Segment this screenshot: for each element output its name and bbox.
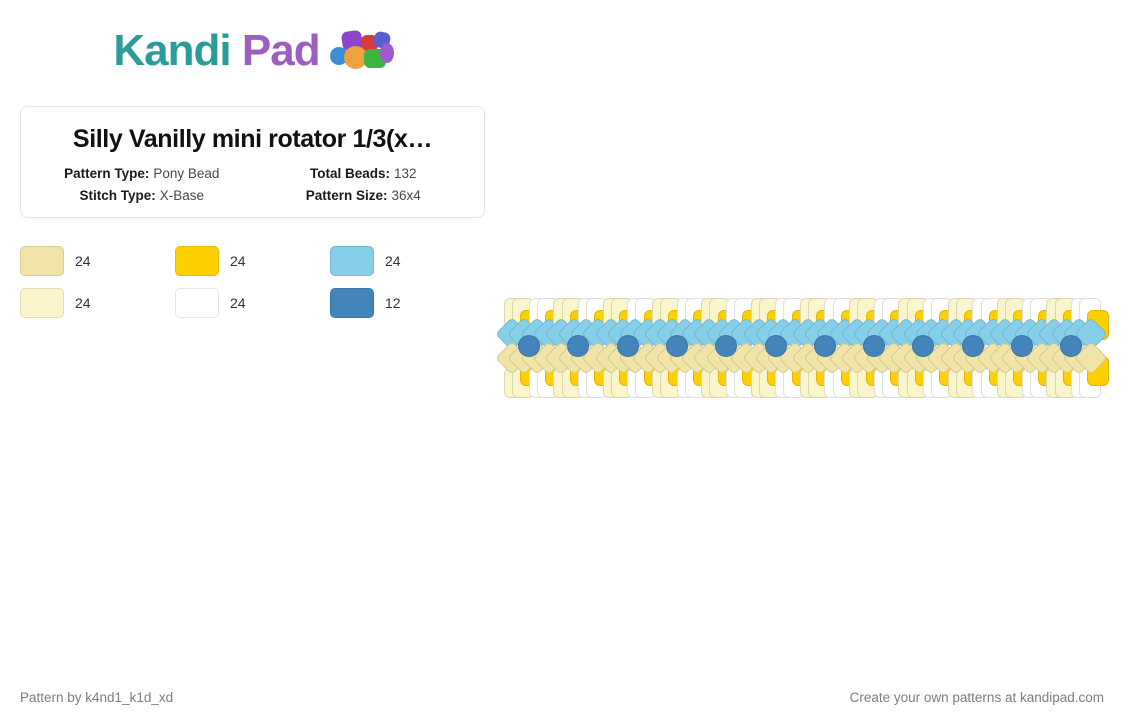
pattern-meta-grid: Pattern Type:Pony Bead Total Beads:132 S… [31, 166, 474, 203]
legend-swatch-vanilla [20, 246, 64, 276]
meta-pattern-type-value: Pony Bead [153, 166, 219, 181]
legend-swatch-steel-blue [330, 288, 374, 318]
meta-pattern-size-value: 36x4 [392, 188, 421, 203]
bead-pattern-preview [505, 296, 1105, 402]
legend-count-vanilla: 24 [75, 253, 91, 269]
meta-pattern-type: Pattern Type:Pony Bead [31, 166, 253, 181]
bead-row3-steel-blue [1011, 335, 1033, 357]
pattern-info-card: Silly Vanilly mini rotator 1/3(x… Patter… [20, 106, 485, 218]
legend-swatch-white [175, 288, 219, 318]
legend-count-cream: 24 [75, 295, 91, 311]
bead-row3-steel-blue [666, 335, 688, 357]
meta-total-beads-value: 132 [394, 166, 417, 181]
app-logo[interactable]: Kandi Pad [20, 20, 485, 82]
meta-stitch-type: Stitch Type:X-Base [31, 188, 253, 203]
bead-row3-steel-blue [863, 335, 885, 357]
legend-item-vanilla[interactable]: 24 [20, 240, 175, 282]
bead-row3-steel-blue [765, 335, 787, 357]
legend-item-steel-blue[interactable]: 12 [330, 282, 485, 324]
page-title: Silly Vanilly mini rotator 1/3(x… [31, 125, 474, 154]
meta-total-beads-label: Total Beads: [310, 166, 390, 181]
logo-text-pad: Pad [242, 26, 320, 75]
legend-count-white: 24 [230, 295, 246, 311]
logo-bead-violet [380, 43, 394, 63]
legend-count-light-blue: 24 [385, 253, 401, 269]
color-legend: 242424242412 [20, 240, 485, 324]
left-panel: Kandi Pad Silly Vanilly mini rotator 1/3… [20, 20, 485, 324]
meta-stitch-type-label: Stitch Type: [79, 188, 155, 203]
footer-promo: Create your own patterns at kandipad.com [850, 690, 1104, 705]
legend-swatch-gold [175, 246, 219, 276]
meta-stitch-type-value: X-Base [160, 188, 204, 203]
legend-count-gold: 24 [230, 253, 246, 269]
logo-bead-cluster-icon [330, 29, 392, 73]
legend-item-light-blue[interactable]: 24 [330, 240, 485, 282]
bead-row3-steel-blue [962, 335, 984, 357]
legend-item-white[interactable]: 24 [175, 282, 330, 324]
meta-total-beads: Total Beads:132 [253, 166, 475, 181]
logo-wordmark: Kandi Pad [113, 29, 319, 73]
meta-pattern-size-label: Pattern Size: [306, 188, 388, 203]
bead-row3-steel-blue [814, 335, 836, 357]
meta-pattern-type-label: Pattern Type: [64, 166, 149, 181]
legend-swatch-cream [20, 288, 64, 318]
footer-credit: Pattern by k4nd1_k1d_xd [20, 690, 173, 705]
page-footer: Pattern by k4nd1_k1d_xd Create your own … [0, 674, 1124, 720]
legend-swatch-light-blue [330, 246, 374, 276]
bead-row3-steel-blue [518, 335, 540, 357]
meta-pattern-size: Pattern Size:36x4 [253, 188, 475, 203]
legend-item-cream[interactable]: 24 [20, 282, 175, 324]
legend-count-steel-blue: 12 [385, 295, 401, 311]
logo-text-kandi: Kandi [113, 26, 230, 75]
bead-row3-steel-blue [617, 335, 639, 357]
legend-item-gold[interactable]: 24 [175, 240, 330, 282]
